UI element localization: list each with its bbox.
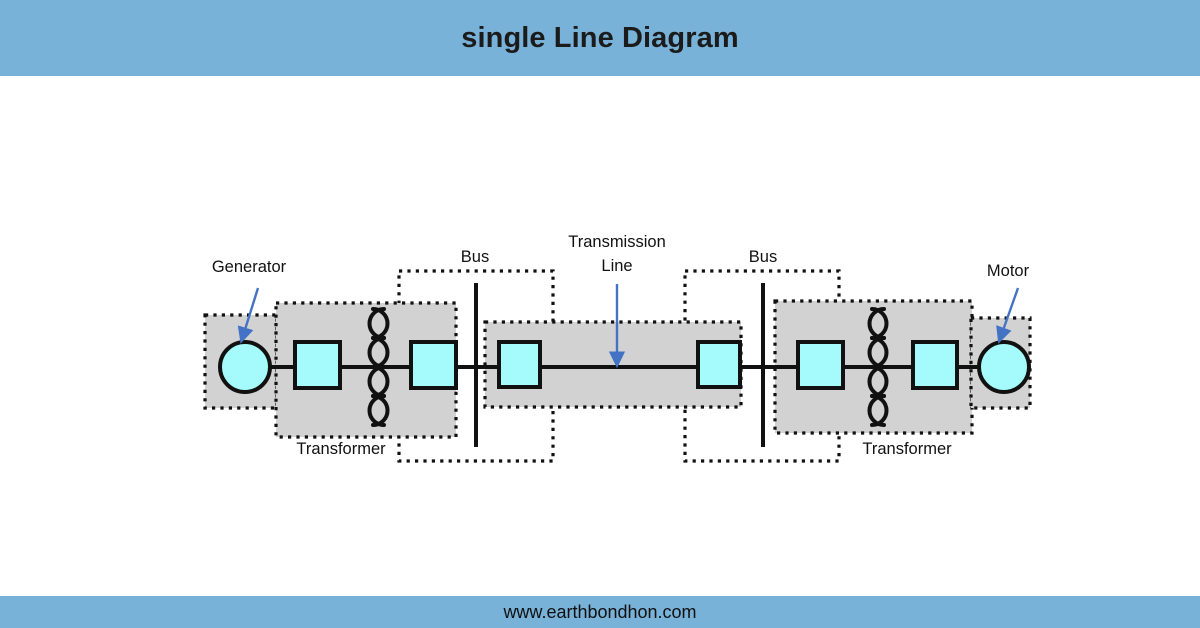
diagram-page: single Line Diagram (0, 0, 1200, 628)
transmission-line-label-line2: Line (557, 257, 677, 275)
transformer-right-label: Transformer (855, 440, 959, 458)
motor-symbol (979, 342, 1029, 392)
breaker-bus-left-a (411, 342, 456, 388)
bus-left-label: Bus (450, 248, 500, 266)
breaker-tl-right (698, 342, 740, 387)
generator-label: Generator (205, 258, 293, 276)
page-title: single Line Diagram (461, 24, 738, 53)
single-line-diagram: Generator Transformer Bus Transmission L… (0, 76, 1200, 596)
breaker-gen-side (295, 342, 340, 388)
footer-banner: www.earthbondhon.com (0, 596, 1200, 628)
transformer-left-label: Transformer (289, 440, 393, 458)
site-url: www.earthbondhon.com (503, 603, 696, 621)
generator-symbol (220, 342, 270, 392)
motor-label: Motor (976, 262, 1040, 280)
header-banner: single Line Diagram (0, 0, 1200, 76)
breaker-bus-right-a (798, 342, 843, 388)
bus-right-label: Bus (738, 248, 788, 266)
diagram-canvas (0, 76, 1200, 596)
transmission-line-label-line1: Transmission (557, 233, 677, 251)
breaker-tl-left (499, 342, 540, 387)
breaker-motor-side (913, 342, 957, 388)
